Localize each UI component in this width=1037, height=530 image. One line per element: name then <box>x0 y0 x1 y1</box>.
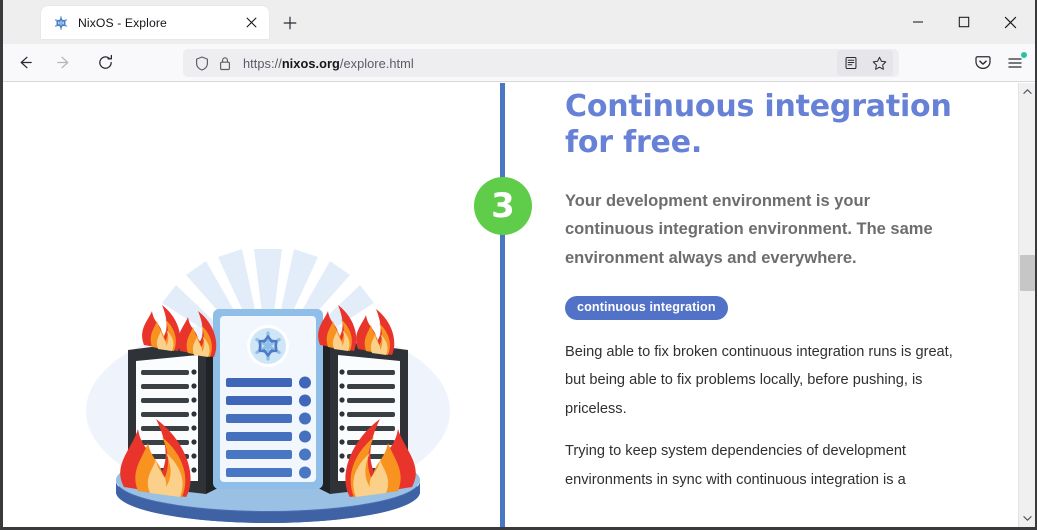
browser-tab[interactable]: NixOS - Explore <box>41 6 269 39</box>
tab-close-icon[interactable] <box>241 13 261 33</box>
url-bar[interactable]: https://nixos.org/explore.html <box>183 49 899 77</box>
new-tab-button[interactable] <box>278 11 302 35</box>
page-title: Continuous integration for free. <box>565 89 965 161</box>
nixos-snowflake-icon <box>53 15 69 31</box>
window-controls <box>895 0 1033 44</box>
content-column: Continuous integration for free. Your de… <box>565 83 965 494</box>
hamburger-menu-icon[interactable] <box>999 49 1031 77</box>
page-viewport: 3 Continuous integration for free. Your … <box>3 83 1035 527</box>
toolbar-right-actions <box>967 49 1031 77</box>
page-scrollbar[interactable] <box>1018 83 1035 527</box>
tab-strip: NixOS - Explore <box>3 0 1035 44</box>
reload-icon[interactable] <box>89 47 121 79</box>
forward-arrow-icon <box>47 47 79 79</box>
body-paragraph-1: Being able to fix broken continuous inte… <box>565 338 953 423</box>
scroll-down-arrow-icon[interactable] <box>1019 510 1036 527</box>
web-page-content: 3 Continuous integration for free. Your … <box>3 83 1018 527</box>
browser-window: NixOS - Explore <box>0 0 1037 530</box>
lead-paragraph: Your development environment is your con… <box>565 187 947 272</box>
step-marker: 3 <box>474 177 532 235</box>
minimize-icon[interactable] <box>895 0 941 44</box>
shield-icon[interactable] <box>193 54 211 72</box>
step-number: 3 <box>491 189 515 223</box>
topic-badge: continuous integration <box>565 296 728 320</box>
timeline-rule <box>500 83 505 527</box>
scrollbar-thumb[interactable] <box>1020 255 1035 291</box>
pocket-icon[interactable] <box>967 49 999 77</box>
scroll-up-arrow-icon[interactable] <box>1019 83 1036 100</box>
body-paragraph-2: Trying to keep system dependencies of de… <box>565 437 953 494</box>
reader-view-icon[interactable] <box>837 50 865 76</box>
url-text[interactable]: https://nixos.org/explore.html <box>243 56 837 71</box>
url-host: nixos.org <box>282 56 340 71</box>
lock-icon[interactable] <box>216 54 234 72</box>
bookmark-star-icon[interactable] <box>865 50 893 76</box>
window-left-border <box>0 0 3 530</box>
tab-title: NixOS - Explore <box>78 16 241 30</box>
update-available-dot <box>1021 52 1027 58</box>
back-arrow-icon[interactable] <box>9 47 41 79</box>
maximize-icon[interactable] <box>941 0 987 44</box>
burning-servers-illustration <box>58 233 478 527</box>
url-bar-actions <box>837 50 893 76</box>
url-path: /explore.html <box>340 56 414 71</box>
url-scheme: https:// <box>243 56 282 71</box>
center-server <box>213 309 323 489</box>
window-close-icon[interactable] <box>987 0 1033 44</box>
